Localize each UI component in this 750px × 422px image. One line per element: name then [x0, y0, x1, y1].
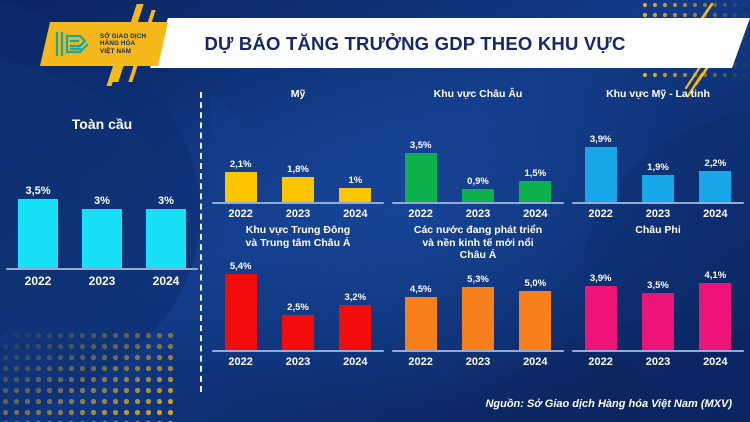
- chart-title: Khu vực Trung Đông và Trung tâm Châu Á: [212, 224, 384, 254]
- vertical-divider: [200, 92, 202, 392]
- bar-value-label: 3,9%: [590, 273, 612, 284]
- x-axis-label: 2024: [339, 356, 371, 368]
- bar[interactable]: [699, 283, 731, 350]
- x-axis-label: 2024: [699, 356, 731, 368]
- bar[interactable]: [18, 199, 58, 268]
- x-axis-labels: 202220232024: [572, 208, 744, 220]
- x-axis-line: [572, 202, 744, 204]
- bar[interactable]: [585, 286, 617, 350]
- plot-area: 4,5%5,3%5,0%: [392, 266, 564, 352]
- bar-column[interactable]: 4,1%: [699, 270, 731, 350]
- x-axis-line: [212, 202, 384, 204]
- plot-area: 3,9%1,9%2,2%: [572, 106, 744, 204]
- bar-column[interactable]: 1%: [339, 175, 371, 202]
- bar[interactable]: [282, 315, 314, 350]
- bar-group: 3,5%0,9%1,5%: [392, 106, 564, 202]
- chart-7: Châu Phi3,9%3,5%4,1%202220232024: [572, 224, 744, 368]
- bar-value-label: 5,4%: [230, 261, 252, 272]
- x-axis-labels: 202220232024: [212, 208, 384, 220]
- x-axis-label: 2023: [462, 356, 494, 368]
- plot-area: 3,9%3,5%4,1%: [572, 242, 744, 352]
- bar-value-label: 2,1%: [230, 159, 252, 170]
- plot-area: 5,4%2,5%3,2%: [212, 254, 384, 352]
- x-axis-labels: 202220232024: [392, 356, 564, 368]
- logo-line-2: HÀNG HÓA: [100, 40, 146, 48]
- x-axis-labels: 202220232024: [572, 356, 744, 368]
- bar-value-label: 3,5%: [410, 140, 432, 151]
- bar-column[interactable]: 3,9%: [585, 273, 617, 350]
- bar-column[interactable]: 2,2%: [699, 158, 731, 202]
- bar-value-label: 1,9%: [647, 162, 669, 173]
- bar-column[interactable]: 3%: [146, 195, 186, 268]
- page-title: DỰ BÁO TĂNG TRƯỞNG GDP THEO KHU VỰC: [170, 28, 660, 60]
- logo-line-3: VIỆT NAM: [100, 48, 146, 56]
- bar[interactable]: [225, 274, 257, 350]
- x-axis-label: 2023: [282, 208, 314, 220]
- x-axis-label: 2022: [585, 356, 617, 368]
- bar-column[interactable]: 1,9%: [642, 162, 674, 202]
- bar[interactable]: [282, 177, 314, 202]
- bar-value-label: 5,3%: [467, 274, 489, 285]
- bar-value-label: 3,2%: [344, 292, 366, 303]
- chart-5: Khu vực Trung Đông và Trung tâm Châu Á5,…: [212, 224, 384, 368]
- bar-column[interactable]: 3,5%: [18, 185, 58, 268]
- x-axis-label: 2022: [405, 208, 437, 220]
- x-axis-label: 2022: [18, 274, 58, 288]
- bar-column[interactable]: 3,5%: [405, 140, 437, 202]
- x-axis-line: [392, 350, 564, 352]
- x-axis-label: 2023: [282, 356, 314, 368]
- bar-column[interactable]: 3%: [82, 195, 122, 268]
- x-axis-label: 2022: [405, 356, 437, 368]
- x-axis-labels: 202220232024: [212, 356, 384, 368]
- bar[interactable]: [225, 172, 257, 202]
- bar-value-label: 1,8%: [287, 164, 309, 175]
- bar[interactable]: [339, 305, 371, 350]
- bar-value-label: 1,5%: [524, 168, 546, 179]
- bar-column[interactable]: 2,5%: [282, 302, 314, 350]
- bar-column[interactable]: 4,5%: [405, 284, 437, 350]
- source-note: Nguồn: Sở Giao dịch Hàng hóa Việt Nam (M…: [485, 398, 732, 410]
- chart-title: Khu vực Mỹ - La tinh: [572, 88, 744, 106]
- bar[interactable]: [405, 153, 437, 202]
- chart-3: Khu vực Châu Âu3,5%0,9%1,5%202220232024: [392, 88, 564, 220]
- chart-title: Châu Phi: [572, 224, 744, 242]
- company-logo[interactable]: SỞ GIAO DỊCH HÀNG HÓA VIỆT NAM: [40, 22, 168, 66]
- bar-column[interactable]: 3,2%: [339, 292, 371, 350]
- x-axis-label: 2024: [519, 208, 551, 220]
- x-axis-label: 2023: [462, 208, 494, 220]
- bar-group: 3,9%1,9%2,2%: [572, 106, 744, 202]
- bar-column[interactable]: 5,4%: [225, 261, 257, 350]
- bar-group: 4,5%5,3%5,0%: [392, 266, 564, 350]
- x-axis-labels: 202220232024: [392, 208, 564, 220]
- bar-value-label: 4,1%: [704, 270, 726, 281]
- chart-title: Mỹ: [212, 88, 384, 106]
- chart-title: Khu vực Châu Âu: [392, 88, 564, 106]
- chart-title: Toàn cầu: [6, 118, 198, 142]
- bar[interactable]: [462, 189, 494, 202]
- logo-text: SỞ GIAO DỊCH HÀNG HÓA VIỆT NAM: [100, 33, 146, 56]
- bar-group: 3,5%3%3%: [6, 142, 198, 268]
- bar-column[interactable]: 3,5%: [642, 280, 674, 350]
- x-axis-label: 2024: [699, 208, 731, 220]
- bar[interactable]: [585, 147, 617, 202]
- x-axis-label: 2024: [519, 356, 551, 368]
- bar-value-label: 4,5%: [410, 284, 432, 295]
- bar-value-label: 3%: [158, 195, 174, 207]
- bar-value-label: 0,9%: [467, 176, 489, 187]
- chart-6: Các nước đang phát triển và nền kinh tế …: [392, 224, 564, 368]
- x-axis-label: 2024: [146, 274, 186, 288]
- x-axis-label: 2023: [642, 208, 674, 220]
- x-axis-line: [572, 350, 744, 352]
- chart-title: Các nước đang phát triển và nền kinh tế …: [392, 224, 564, 266]
- bar-value-label: 3,5%: [647, 280, 669, 291]
- x-axis-label: 2022: [585, 208, 617, 220]
- bar-value-label: 3,9%: [590, 134, 612, 145]
- bar[interactable]: [146, 209, 186, 268]
- bar-group: 5,4%2,5%3,2%: [212, 254, 384, 350]
- x-axis-labels: 202220232024: [6, 274, 198, 288]
- bar-column[interactable]: 0,9%: [462, 176, 494, 202]
- x-axis-label: 2022: [225, 356, 257, 368]
- bar[interactable]: [519, 181, 551, 202]
- mxv-logo-icon: [54, 29, 94, 59]
- bar-value-label: 3,5%: [25, 185, 50, 197]
- plot-area: 3,5%0,9%1,5%: [392, 106, 564, 204]
- bar-column[interactable]: 5,3%: [462, 274, 494, 350]
- bar-value-label: 5,0%: [524, 278, 546, 289]
- bar-column[interactable]: 1,8%: [282, 164, 314, 202]
- chart-4: Khu vực Mỹ - La tinh3,9%1,9%2,2%20222023…: [572, 88, 744, 220]
- bar-value-label: 3%: [94, 195, 110, 207]
- bar[interactable]: [339, 188, 371, 202]
- bar-column[interactable]: 5,0%: [519, 278, 551, 350]
- chart-2: Mỹ2,1%1,8%1%202220232024: [212, 88, 384, 220]
- bar[interactable]: [462, 287, 494, 350]
- bar-group: 2,1%1,8%1%: [212, 106, 384, 202]
- bar[interactable]: [519, 291, 551, 350]
- bar[interactable]: [82, 209, 122, 268]
- x-axis-label: 2024: [339, 208, 371, 220]
- x-axis-label: 2023: [82, 274, 122, 288]
- bar-column[interactable]: 1,5%: [519, 168, 551, 202]
- x-axis-line: [6, 268, 198, 270]
- x-axis-label: 2022: [225, 208, 257, 220]
- bar-group: 3,9%3,5%4,1%: [572, 242, 744, 350]
- bar[interactable]: [699, 171, 731, 202]
- bar[interactable]: [642, 175, 674, 202]
- bar[interactable]: [405, 297, 437, 350]
- bar-value-label: 1%: [348, 175, 362, 186]
- x-axis-line: [212, 350, 384, 352]
- bar-column[interactable]: 3,9%: [585, 134, 617, 202]
- bar-value-label: 2,2%: [704, 158, 726, 169]
- x-axis-label: 2023: [642, 356, 674, 368]
- plot-area: 2,1%1,8%1%: [212, 106, 384, 204]
- x-axis-line: [392, 202, 564, 204]
- bar-value-label: 2,5%: [287, 302, 309, 313]
- plot-area: 3,5%3%3%: [6, 142, 198, 270]
- chart-1: Toàn cầu3,5%3%3%202220232024: [6, 118, 198, 288]
- bar-column[interactable]: 2,1%: [225, 159, 257, 202]
- bar[interactable]: [642, 293, 674, 350]
